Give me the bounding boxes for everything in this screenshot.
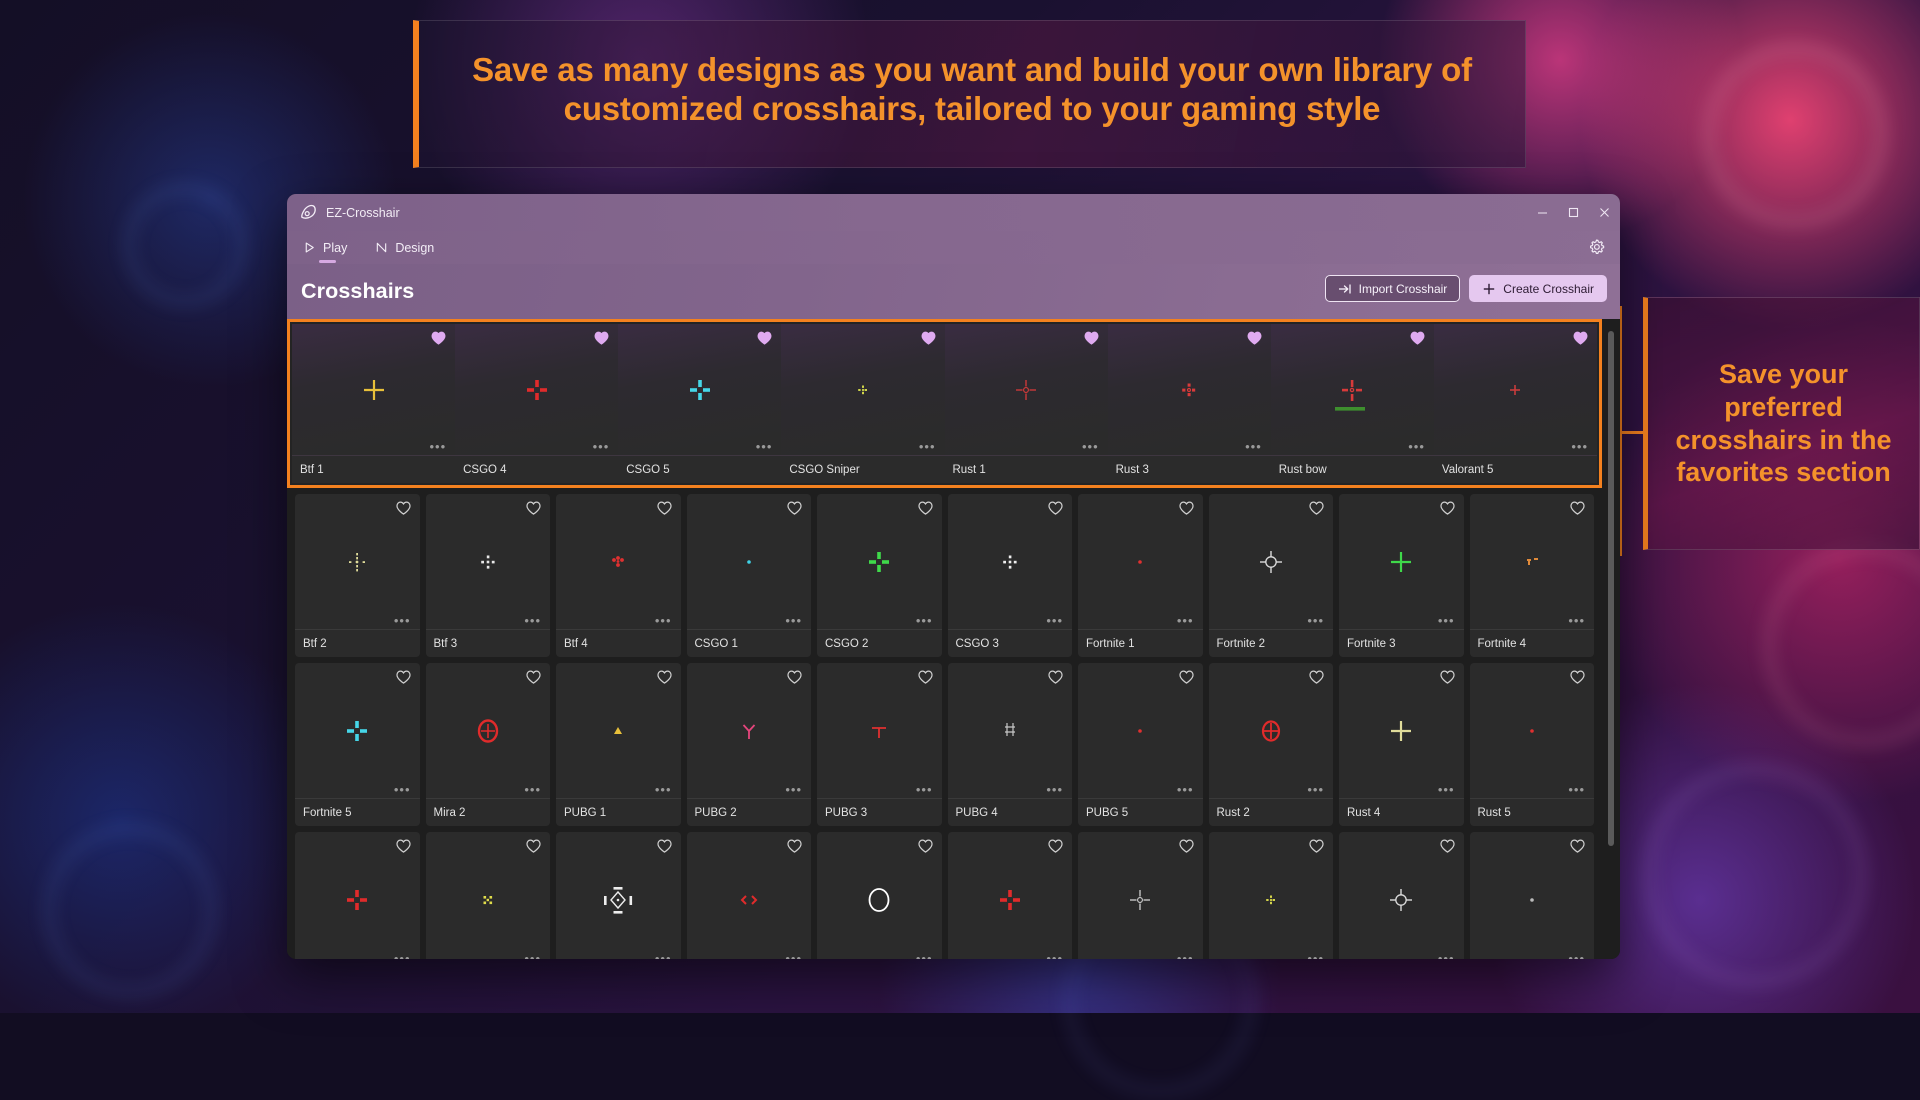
tab-play-label: Play [323,241,347,255]
crosshair-preview: ••• [781,324,944,455]
crosshair-preview: ••• [426,663,551,798]
crosshair-preview: ••• [1271,324,1434,455]
crosshair-card-label: CSGO 3 [948,629,1073,657]
heart-outline-icon[interactable] [1048,839,1063,853]
settings-button[interactable] [1587,238,1606,257]
crosshair-preview-cross-gap [670,360,730,420]
heart-filled-icon[interactable] [757,331,772,345]
favorites-section: •••Btf 1•••CSGO 4•••CSGO 5•••CSGO Sniper… [287,319,1602,488]
maximize-button[interactable] [1558,194,1589,231]
crosshair-preview-cross-thin [1371,532,1431,592]
crosshair-preview: ••• [817,832,942,959]
crosshair-card[interactable]: •••Btf 3 [426,494,551,657]
heart-filled-icon[interactable] [1573,331,1588,345]
heart-filled-icon[interactable] [1247,331,1262,345]
window-controls [1527,194,1620,231]
crosshair-preview-circle-cross-red [1241,701,1301,761]
more-options-icon[interactable]: ••• [1082,443,1099,451]
crosshair-preview-cross-gap [327,701,387,761]
crosshair-preview-diamond-bracket [588,870,648,930]
crosshair-preview: ••• [455,324,618,455]
crosshair-card[interactable]: •••CSGO 4 [455,324,618,483]
maximize-icon [1568,207,1579,218]
crosshair-preview: ••• [945,324,1108,455]
crosshair-card-label: Fortnite 4 [1470,629,1595,657]
crosshair-preview-dot [1502,870,1562,930]
crosshair-card[interactable]: ••• [948,832,1073,959]
crosshair-preview-dot-cluster [588,532,648,592]
crosshair-preview: ••• [1339,832,1464,959]
crosshair-preview: ••• [687,832,812,959]
heart-outline-icon[interactable] [1440,670,1455,684]
top-annotation-banner: Save as many designs as you want and bui… [413,20,1526,168]
heart-outline-icon[interactable] [526,670,541,684]
crosshair-preview-caret [588,701,648,761]
crosshair-preview-tiny-dot-cross [833,360,893,420]
design-pen-icon [375,241,388,254]
more-options-icon[interactable]: ••• [1046,617,1063,625]
crosshair-preview: ••• [687,494,812,629]
crosshair-card-label: Rust 3 [1108,455,1271,483]
crosshair-card[interactable]: •••Fortnite 4 [1470,494,1595,657]
crosshair-preview-cross-gap [507,360,567,420]
crosshair-card[interactable]: ••• [817,832,942,959]
heart-outline-icon[interactable] [918,839,933,853]
crosshair-card-label: Rust 2 [1209,798,1334,826]
minimize-button[interactable] [1527,194,1558,231]
crosshair-card[interactable]: •••Rust 2 [1209,663,1334,826]
heart-outline-icon[interactable] [526,501,541,515]
more-options-icon[interactable]: ••• [524,617,541,625]
crosshair-card[interactable]: •••Mira 2 [426,663,551,826]
heart-outline-icon[interactable] [1179,670,1194,684]
crosshair-card[interactable]: •••Valorant 5 [1434,324,1597,483]
crosshair-preview: ••• [817,494,942,629]
heart-outline-icon[interactable] [787,839,802,853]
more-options-icon[interactable]: ••• [1046,786,1063,794]
more-options-icon[interactable]: ••• [916,617,933,625]
crosshair-card-label: Btf 3 [426,629,551,657]
crosshair-card[interactable]: •••PUBG 1 [556,663,681,826]
more-options-icon[interactable]: ••• [1177,786,1194,794]
more-options-icon[interactable]: ••• [655,955,672,959]
crosshair-card-label: CSGO 5 [618,455,781,483]
import-crosshair-button[interactable]: Import Crosshair [1325,275,1461,302]
more-options-icon[interactable]: ••• [785,955,802,959]
more-options-icon[interactable]: ••• [655,617,672,625]
crosshair-preview: ••• [618,324,781,455]
crosshair-card[interactable]: •••Btf 4 [556,494,681,657]
crosshair-preview: ••• [1078,832,1203,959]
crosshair-card[interactable]: •••Rust 1 [945,324,1108,483]
heart-outline-icon[interactable] [396,670,411,684]
more-options-icon[interactable]: ••• [1571,443,1588,451]
crosshair-preview: ••• [948,663,1073,798]
crosshair-card-label: Btf 1 [292,455,455,483]
crosshair-preview-x-dots [458,870,518,930]
more-options-icon[interactable]: ••• [1438,955,1455,959]
heart-outline-icon[interactable] [1570,670,1585,684]
more-options-icon[interactable]: ••• [919,443,936,451]
crosshair-preview-dot [1110,532,1170,592]
more-options-icon[interactable]: ••• [1438,617,1455,625]
crosshair-card[interactable]: ••• [556,832,681,959]
crosshair-preview-dot [719,532,779,592]
tab-design-label: Design [395,241,434,255]
page-header: Crosshairs Import Crosshair Create Cross… [287,264,1620,319]
crosshair-preview: ••• [1209,494,1334,629]
crosshair-card-label: CSGO 4 [455,455,618,483]
heart-outline-icon[interactable] [1309,501,1324,515]
more-options-icon[interactable]: ••• [785,786,802,794]
heart-outline-icon[interactable] [1309,839,1324,853]
heart-outline-icon[interactable] [1048,670,1063,684]
heart-outline-icon[interactable] [526,839,541,853]
crosshair-preview: ••• [1209,832,1334,959]
crosshair-card-label: Fortnite 5 [295,798,420,826]
heart-outline-icon[interactable] [1048,501,1063,515]
window-titlebar[interactable]: EZ-Crosshair [287,194,1620,231]
heart-filled-icon[interactable] [1084,331,1099,345]
close-button[interactable] [1589,194,1620,231]
minimize-icon [1537,207,1548,218]
heart-filled-icon[interactable] [594,331,609,345]
heart-outline-icon[interactable] [657,501,672,515]
crosshair-card[interactable]: •••CSGO 5 [618,324,781,483]
crosshair-preview-tiny-dot-cross [1241,870,1301,930]
crosshair-preview: ••• [1078,663,1203,798]
tab-design[interactable]: Design [372,231,437,264]
crosshair-card-label: PUBG 1 [556,798,681,826]
play-icon [303,241,316,254]
heart-outline-icon[interactable] [1179,839,1194,853]
crosshair-library-content: •••Btf 1•••CSGO 4•••CSGO 5•••CSGO Sniper… [287,319,1620,959]
more-options-icon[interactable]: ••• [1245,443,1262,451]
side-annotation-text: Save your preferred crosshairs in the fa… [1664,358,1903,490]
crosshair-preview-dot [1502,701,1562,761]
crosshair-preview: ••• [1078,494,1203,629]
crosshair-preview: ••• [687,663,812,798]
more-options-icon[interactable]: ••• [785,617,802,625]
crosshair-preview-bow [1322,360,1382,420]
crosshair-card[interactable]: •••F6 [295,832,420,959]
crosshair-card-label: PUBG 4 [948,798,1073,826]
crosshair-card[interactable]: •••Fortnite 2 [1209,494,1334,657]
crosshair-preview: ••• [1470,494,1595,629]
crosshair-preview-tee [849,701,909,761]
crosshair-card-label: Rust 5 [1470,798,1595,826]
crosshair-card[interactable]: •••CSGO 1 [687,494,812,657]
crosshair-card[interactable]: •••Fortnite 1 [1078,494,1203,657]
more-options-icon[interactable]: ••• [524,955,541,959]
crosshair-preview-small-cross [1485,360,1545,420]
more-options-icon[interactable]: ••• [1177,955,1194,959]
crosshair-preview: ••• [1209,663,1334,798]
crosshair-preview-circle-cross [1371,870,1431,930]
crosshair-preview: ••• [1108,324,1271,455]
crosshair-preview-tripod [719,701,779,761]
crosshair-card[interactable]: ••• [1339,832,1464,959]
crosshair-preview-arrows [719,870,779,930]
more-options-icon[interactable]: ••• [394,786,411,794]
crosshair-preview: ••• [556,494,681,629]
titlebar-left-group: EZ-Crosshair [287,204,400,221]
crosshair-card[interactable]: •••Rust 3 [1108,324,1271,483]
heart-outline-icon[interactable] [1570,839,1585,853]
heart-outline-icon[interactable] [787,501,802,515]
page-title: Crosshairs [287,279,414,304]
crosshair-preview: ••• [426,832,551,959]
more-options-icon[interactable]: ••• [1568,955,1585,959]
heart-outline-icon[interactable] [1179,501,1194,515]
crosshair-card[interactable]: •••CSGO 3 [948,494,1073,657]
crosshair-card-label: Rust 4 [1339,798,1464,826]
crosshair-preview-tri-tick [1502,532,1562,592]
crosshair-preview: ••• [1470,663,1595,798]
window-title: EZ-Crosshair [326,206,400,220]
crosshair-preview: ••• [1339,663,1464,798]
more-options-icon[interactable]: ••• [429,443,446,451]
crosshair-preview: ••• [556,832,681,959]
more-options-icon[interactable]: ••• [1438,786,1455,794]
heart-outline-icon[interactable] [396,501,411,515]
crosshair-preview-hash [980,701,1040,761]
crosshair-card-label: CSGO 2 [817,629,942,657]
crosshair-preview-cross-outline [996,360,1056,420]
crosshair-preview-cross-gap [327,870,387,930]
callout-connector-bracket [1619,306,1645,556]
crosshair-grid-row: •••Fortnite 5•••Mira 2•••PUBG 1•••PUBG 2… [287,657,1602,826]
import-crosshair-label: Import Crosshair [1359,282,1448,296]
crosshair-preview: ••• [1470,832,1595,959]
crosshair-card[interactable]: •••Rust 4 [1339,663,1464,826]
header-actions: Import Crosshair Create Crosshair [1325,275,1607,302]
heart-filled-icon[interactable] [431,331,446,345]
crosshair-card[interactable]: •••Rust bow [1271,324,1434,483]
crosshair-preview: ••• [556,663,681,798]
heart-filled-icon[interactable] [1410,331,1425,345]
crosshair-card[interactable]: •••PUBG 2 [687,663,812,826]
heart-outline-icon[interactable] [657,839,672,853]
scrollbar-track[interactable] [1611,325,1617,945]
import-arrow-icon [1338,282,1352,296]
crosshair-card[interactable]: ••• [687,832,812,959]
more-options-icon[interactable]: ••• [1046,955,1063,959]
heart-outline-icon[interactable] [1440,501,1455,515]
crosshair-preview-cross-thin [344,360,404,420]
crosshair-preview-dot [1110,701,1170,761]
crosshair-preview-dot-quad-white [458,532,518,592]
crosshair-preview-circle-cross [1241,532,1301,592]
heart-outline-icon[interactable] [396,839,411,853]
crosshair-card-label: PUBG 2 [687,798,812,826]
heart-outline-icon[interactable] [1440,839,1455,853]
side-annotation-banner: Save your preferred crosshairs in the fa… [1643,297,1920,550]
gear-icon [1587,238,1606,257]
crosshair-card[interactable]: •••Btf 2 [295,494,420,657]
crosshair-card-label: Fortnite 1 [1078,629,1203,657]
more-options-icon[interactable]: ••• [1568,617,1585,625]
heart-outline-icon[interactable] [918,670,933,684]
more-options-icon[interactable]: ••• [655,786,672,794]
crosshair-card-label: Mira 2 [426,798,551,826]
crosshair-preview: ••• [295,832,420,959]
crosshair-card-label: PUBG 5 [1078,798,1203,826]
crosshair-preview-dot-quad [1159,360,1219,420]
crosshair-card[interactable]: •••PUBG 4 [948,663,1073,826]
more-options-icon[interactable]: ••• [1307,955,1324,959]
crosshair-preview: ••• [295,663,420,798]
crosshair-preview-circle-big [458,701,518,761]
crosshair-card[interactable]: ••• [426,832,551,959]
crosshair-card-label: CSGO 1 [687,629,812,657]
crosshair-card[interactable]: •••Fortnite 5 [295,663,420,826]
crosshair-card-label: Fortnite 3 [1339,629,1464,657]
crosshair-card-label: Btf 2 [295,629,420,657]
crosshair-preview: ••• [426,494,551,629]
crosshair-card[interactable]: ••• [1470,832,1595,959]
more-options-icon[interactable]: ••• [1568,786,1585,794]
more-options-icon[interactable]: ••• [916,955,933,959]
crosshair-card-label: Rust bow [1271,455,1434,483]
crosshair-preview: ••• [292,324,455,455]
more-options-icon[interactable]: ••• [394,617,411,625]
heart-filled-icon[interactable] [921,331,936,345]
crosshair-card[interactable]: •••Rust 5 [1470,663,1595,826]
crosshair-preview-cross-gap [980,870,1040,930]
crosshair-card-label: Fortnite 2 [1209,629,1334,657]
crosshair-grid-row: •••F6••••••••••••••••••••••••••• [287,826,1602,959]
crosshair-card[interactable]: •••CSGO Sniper [781,324,944,483]
more-options-icon[interactable]: ••• [593,443,610,451]
crosshair-card-label: PUBG 3 [817,798,942,826]
crosshair-preview-cross-thin [1371,701,1431,761]
top-annotation-text: Save as many designs as you want and bui… [445,51,1499,128]
crosshair-preview: ••• [295,494,420,629]
close-icon [1599,207,1610,218]
crosshair-card-label: CSGO Sniper [781,455,944,483]
more-options-icon[interactable]: ••• [1307,617,1324,625]
crosshair-preview-cross-outline [1110,870,1170,930]
app-window: EZ-Crosshair [287,194,1620,959]
crosshair-preview-cross-gap [849,532,909,592]
create-crosshair-label: Create Crosshair [1503,282,1594,296]
more-options-icon[interactable]: ••• [394,955,411,959]
crosshair-preview: ••• [1339,494,1464,629]
crosshair-card[interactable]: •••PUBG 3 [817,663,942,826]
crosshair-card-label: Valorant 5 [1434,455,1597,483]
heart-outline-icon[interactable] [1309,670,1324,684]
heart-outline-icon[interactable] [918,501,933,515]
crosshair-card-label: Rust 1 [945,455,1108,483]
crosshair-grid-row: •••Btf 2•••Btf 3•••Btf 4•••CSGO 1•••CSGO… [287,488,1602,657]
more-options-icon[interactable]: ••• [1408,443,1425,451]
heart-outline-icon[interactable] [1570,501,1585,515]
crosshair-card[interactable]: •••Fortnite 3 [1339,494,1464,657]
more-options-icon[interactable]: ••• [916,786,933,794]
crosshair-logo-icon [300,204,317,221]
tab-play[interactable]: Play [300,231,350,264]
crosshair-preview-dashed-cross [327,532,387,592]
plus-icon [1482,282,1496,296]
create-crosshair-button[interactable]: Create Crosshair [1469,275,1607,302]
crosshair-card[interactable]: •••CSGO 2 [817,494,942,657]
crosshair-preview: ••• [1434,324,1597,455]
crosshair-preview: ••• [817,663,942,798]
crosshair-preview-ring [849,870,909,930]
main-toolbar: Play Design [287,231,1620,264]
crosshair-preview: ••• [948,832,1073,959]
crosshair-card[interactable]: •••PUBG 5 [1078,663,1203,826]
crosshair-scroll-area: •••Btf 1•••CSGO 4•••CSGO 5•••CSGO Sniper… [287,319,1620,959]
more-options-icon[interactable]: ••• [1177,617,1194,625]
more-options-icon[interactable]: ••• [524,786,541,794]
heart-outline-icon[interactable] [787,670,802,684]
more-options-icon[interactable]: ••• [756,443,773,451]
crosshair-card[interactable]: •••Btf 1 [292,324,455,483]
crosshair-card[interactable]: ••• [1078,832,1203,959]
heart-outline-icon[interactable] [657,670,672,684]
more-options-icon[interactable]: ••• [1307,786,1324,794]
crosshair-card[interactable]: ••• [1209,832,1334,959]
crosshair-card-label: Btf 4 [556,629,681,657]
crosshair-preview-dot-quad-white [980,532,1040,592]
crosshair-preview: ••• [948,494,1073,629]
scrollbar-thumb[interactable] [1608,331,1614,846]
